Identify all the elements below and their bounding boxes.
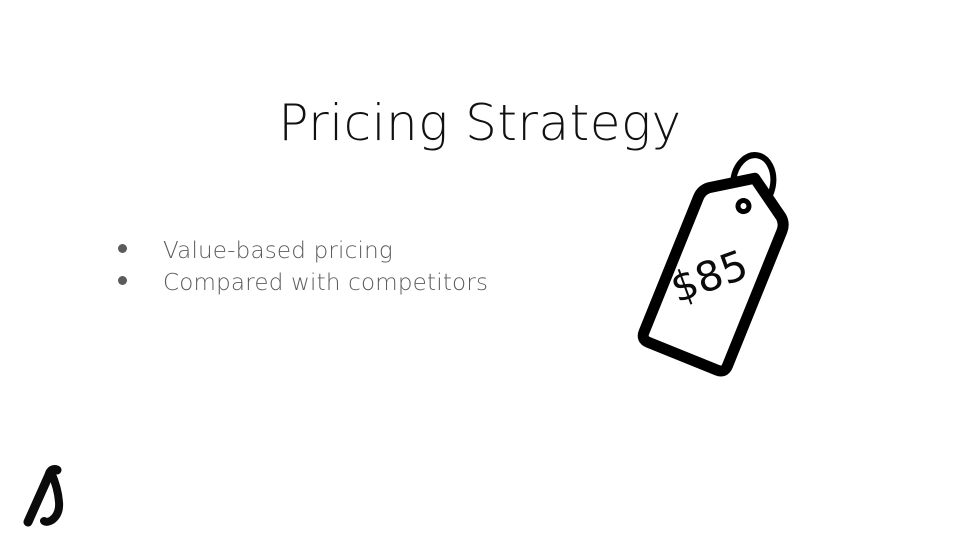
slide-canvas: Pricing Strategy Value-based pricing Com…: [0, 0, 960, 540]
list-item: Compared with competitors: [118, 270, 488, 302]
price-tag-illustration: $85: [628, 150, 858, 420]
page-title: Pricing Strategy: [0, 96, 960, 151]
bullet-dot-icon: [118, 244, 127, 253]
tag-hole-icon: [736, 199, 750, 213]
bullet-dot-icon: [118, 276, 127, 285]
brand-logo: [18, 464, 78, 530]
bullet-list: Value-based pricing Compared with compet…: [118, 238, 488, 302]
list-item: Value-based pricing: [118, 238, 488, 270]
bullet-label: Compared with competitors: [163, 270, 488, 296]
bullet-label: Value-based pricing: [163, 238, 393, 264]
lambda-logo-icon: [28, 470, 59, 522]
